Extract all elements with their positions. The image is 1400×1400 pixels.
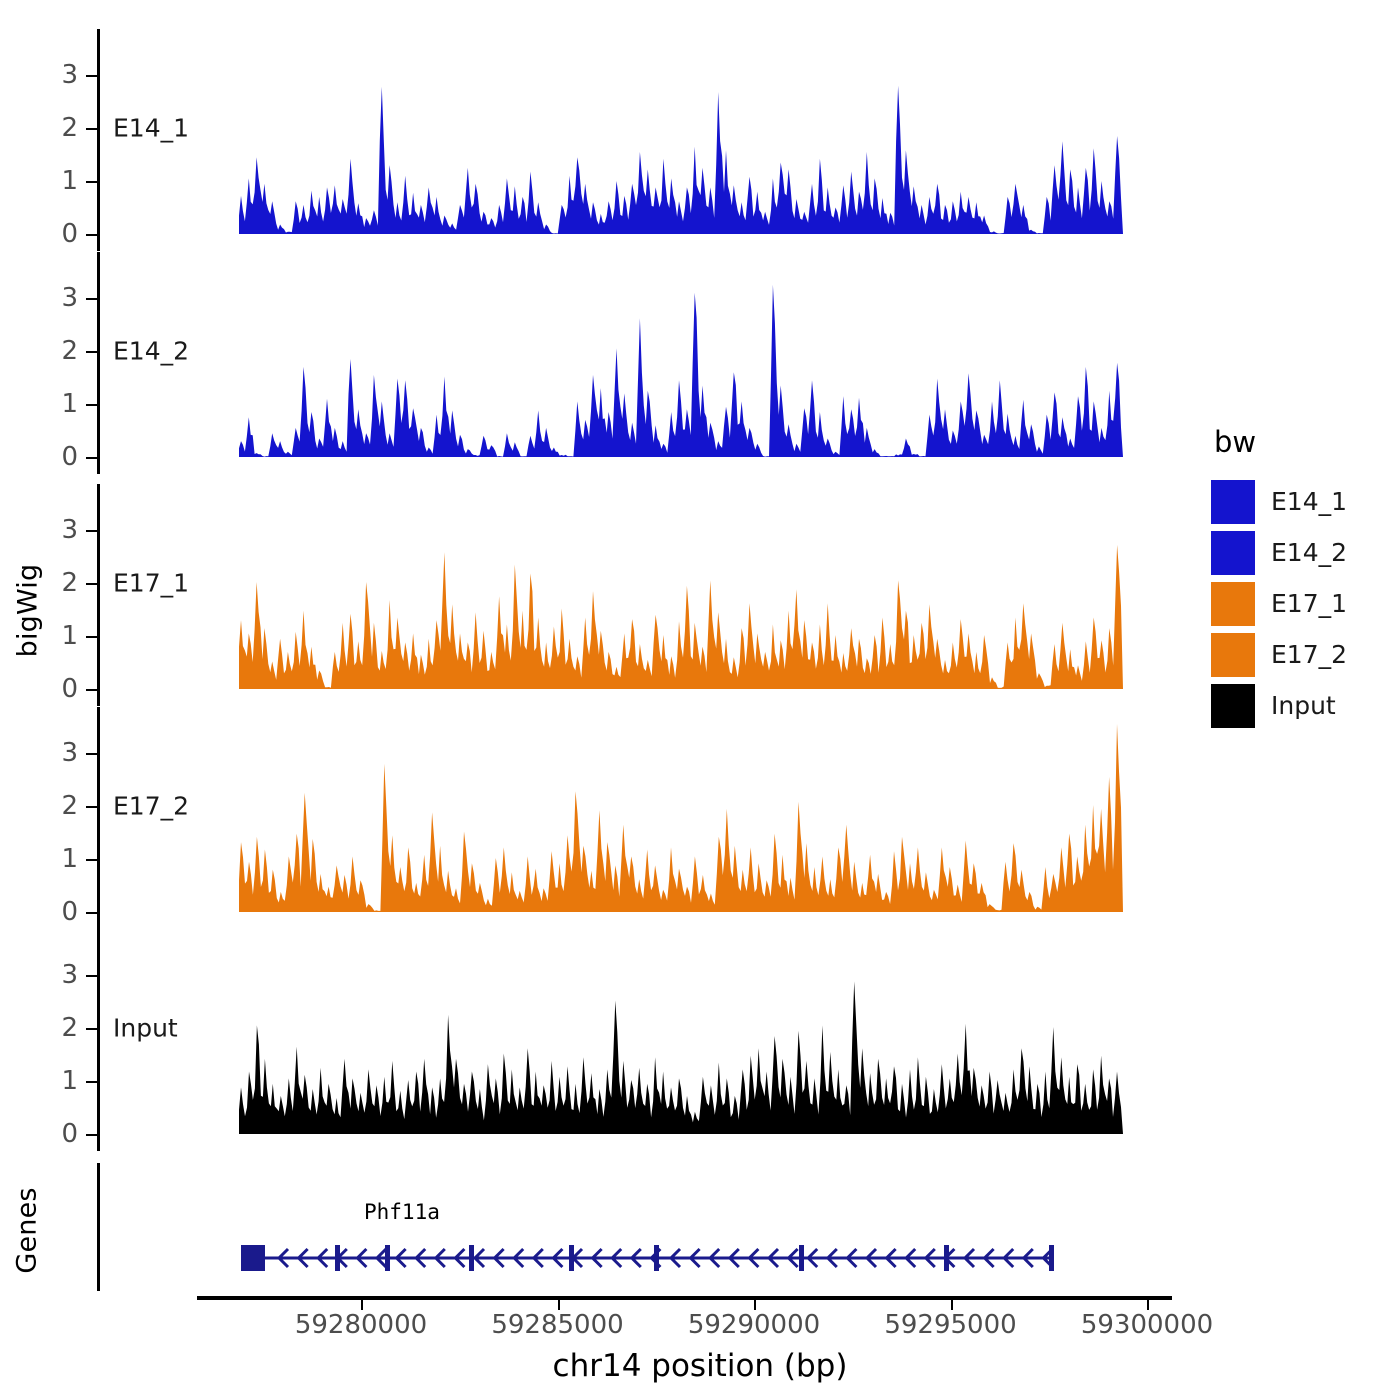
signal-area-input[interactable] <box>239 928 1123 1135</box>
y-tick-input-2 <box>86 1028 97 1030</box>
x-tick-59290000 <box>754 1300 756 1310</box>
y-tick-e14_1-2 <box>86 128 97 130</box>
y-tick-label-input-2: 2 <box>40 1013 78 1043</box>
y-tick-e14_1-0 <box>86 234 97 236</box>
legend-swatch-e17_1 <box>1211 582 1255 626</box>
y-tick-e14_1-3 <box>86 75 97 77</box>
x-tick-label-59290000: 59290000 <box>688 1310 820 1340</box>
y-tick-label-e14_1-0: 0 <box>40 219 78 249</box>
x-tick-label-59300000: 59300000 <box>1081 1310 1213 1340</box>
y-tick-label-e17_1-3: 3 <box>40 515 78 545</box>
y-axis-line-e14_1 <box>97 29 100 251</box>
track-panel-input: 0123Input <box>0 0 1200 1</box>
y-tick-label-e14_2-2: 2 <box>40 336 78 366</box>
legend-label-e17_2: E17_2 <box>1271 640 1347 669</box>
legend-items: E14_1E14_2E17_1E17_2Input <box>1211 476 1396 731</box>
y-axis-line-e17_1 <box>97 484 100 706</box>
y-tick-e17_2-1 <box>86 859 97 861</box>
legend-swatch-e17_2 <box>1211 633 1255 677</box>
bigwig-strip-label: bigWig <box>13 531 44 691</box>
y-tick-e17_2-2 <box>86 806 97 808</box>
y-tick-e17_1-1 <box>86 636 97 638</box>
y-tick-label-e17_2-0: 0 <box>40 897 78 927</box>
legend-swatch-e14_2 <box>1211 531 1255 575</box>
track-label-e17_1: E17_1 <box>113 569 189 598</box>
x-tick-59295000 <box>951 1300 953 1310</box>
y-tick-input-1 <box>86 1081 97 1083</box>
signal-area-e14_1[interactable] <box>239 28 1123 235</box>
y-tick-label-input-0: 0 <box>40 1119 78 1149</box>
y-tick-e14_1-1 <box>86 181 97 183</box>
y-tick-e14_2-3 <box>86 298 97 300</box>
legend-swatch-e14_1 <box>1211 480 1255 524</box>
legend-label-e14_2: E14_2 <box>1271 538 1347 567</box>
y-tick-label-e14_1-3: 3 <box>40 60 78 90</box>
track-label-input: Input <box>113 1014 178 1043</box>
y-tick-label-e14_2-1: 1 <box>40 389 78 419</box>
x-tick-label-59285000: 59285000 <box>491 1310 623 1340</box>
legend-swatch-input <box>1211 684 1255 728</box>
y-tick-e17_1-0 <box>86 689 97 691</box>
y-axis-line-input <box>97 929 100 1151</box>
y-tick-input-0 <box>86 1134 97 1136</box>
y-tick-e17_2-3 <box>86 753 97 755</box>
y-tick-input-3 <box>86 975 97 977</box>
y-tick-e14_2-0 <box>86 457 97 459</box>
x-axis-title: chr14 position (bp) <box>0 1348 1400 1384</box>
y-tick-e14_2-1 <box>86 404 97 406</box>
legend-label-input: Input <box>1271 691 1336 720</box>
y-tick-label-input-3: 3 <box>40 960 78 990</box>
y-tick-label-e17_1-0: 0 <box>40 674 78 704</box>
genes-strip-label: Genes <box>12 1156 43 1306</box>
legend-label-e17_1: E17_1 <box>1271 589 1347 618</box>
y-tick-label-e17_2-3: 3 <box>40 738 78 768</box>
track-label-e14_2: E14_2 <box>113 337 189 366</box>
x-tick-59280000 <box>361 1300 363 1310</box>
y-tick-e17_1-3 <box>86 530 97 532</box>
y-tick-label-e14_2-0: 0 <box>40 442 78 472</box>
x-tick-label-59280000: 59280000 <box>295 1310 427 1340</box>
y-tick-e14_2-2 <box>86 351 97 353</box>
track-label-e14_1: E14_1 <box>113 114 189 143</box>
y-tick-label-input-1: 1 <box>40 1066 78 1096</box>
y-tick-label-e17_2-1: 1 <box>40 844 78 874</box>
legend-item-e14_2[interactable]: E14_2 <box>1211 527 1396 578</box>
y-tick-label-e17_1-1: 1 <box>40 621 78 651</box>
genes-panel-axis <box>97 1163 100 1291</box>
track-label-e17_2: E17_2 <box>113 792 189 821</box>
signal-area-e14_2[interactable] <box>239 251 1123 458</box>
x-tick-59300000 <box>1147 1300 1149 1310</box>
legend-item-e17_1[interactable]: E17_1 <box>1211 578 1396 629</box>
x-tick-59285000 <box>558 1300 560 1310</box>
x-axis-line <box>197 1296 1172 1300</box>
legend-label-e14_1: E14_1 <box>1271 487 1347 516</box>
y-tick-label-e14_1-1: 1 <box>40 166 78 196</box>
y-tick-e17_1-2 <box>86 583 97 585</box>
legend-item-e14_1[interactable]: E14_1 <box>1211 476 1396 527</box>
y-axis-line-e17_2 <box>97 707 100 929</box>
y-tick-label-e14_2-3: 3 <box>40 283 78 313</box>
x-tick-label-59295000: 59295000 <box>884 1310 1016 1340</box>
legend-item-e17_2[interactable]: E17_2 <box>1211 629 1396 680</box>
signal-area-e17_1[interactable] <box>239 483 1123 690</box>
y-tick-label-e17_2-2: 2 <box>40 791 78 821</box>
signal-area-e17_2[interactable] <box>239 706 1123 913</box>
y-tick-e17_2-0 <box>86 912 97 914</box>
gene-model-track[interactable] <box>239 1170 1123 1288</box>
legend-item-input[interactable]: Input <box>1211 680 1396 731</box>
legend: bw E14_1E14_2E17_1E17_2Input <box>1211 425 1396 731</box>
y-tick-label-e14_1-2: 2 <box>40 113 78 143</box>
y-tick-label-e17_1-2: 2 <box>40 568 78 598</box>
y-axis-line-e14_2 <box>97 252 100 474</box>
legend-title: bw <box>1214 425 1396 459</box>
